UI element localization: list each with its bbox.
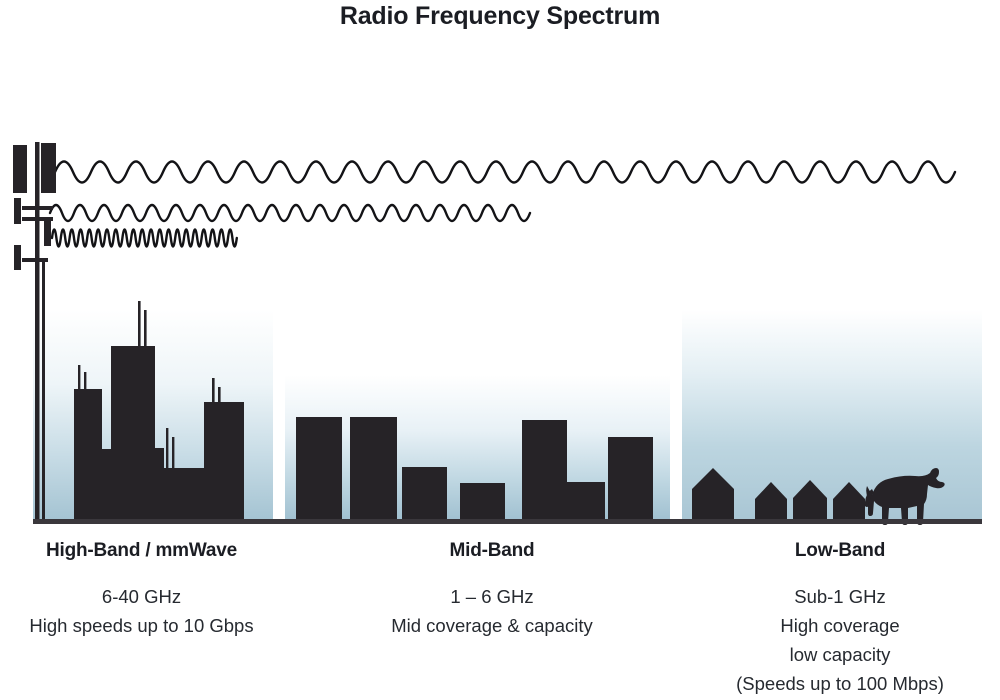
ground-line: [33, 519, 982, 524]
building-mid-5: [522, 420, 567, 521]
building-mid-1: [296, 417, 342, 521]
building-high-3: [111, 346, 155, 521]
band-detail-low-band-1: High coverage: [680, 611, 1000, 640]
building-mid-2: [350, 417, 397, 521]
building-high-4: [155, 448, 164, 521]
building-mid-6: [567, 482, 605, 521]
tower-mast-secondary: [42, 260, 45, 522]
band-captions: High-Band / mmWave 6-40 GHz High speeds …: [0, 540, 1000, 700]
building-high-5: [164, 468, 204, 521]
band-column-mid-band: Mid-Band 1 – 6 GHz Mid coverage & capaci…: [322, 540, 662, 640]
building-spire: [172, 437, 174, 468]
band-column-high-band: High-Band / mmWave 6-40 GHz High speeds …: [0, 540, 283, 640]
building-high-2: [102, 449, 111, 521]
band-detail-low-band-2: low capacity: [680, 640, 1000, 669]
tower-panel-middle: [14, 198, 21, 224]
tower-panel-lower: [14, 245, 21, 270]
band-frequency-low-band: Sub-1 GHz: [680, 582, 1000, 611]
wave-group: [50, 162, 955, 247]
page-title: Radio Frequency Spectrum: [0, 2, 1000, 31]
band-frequency-high-band: 6-40 GHz: [0, 582, 283, 611]
building-spire: [144, 310, 147, 346]
building-high-1: [74, 389, 102, 521]
tower-mast: [35, 142, 40, 522]
tower-panel-top-left: [13, 145, 27, 193]
band-detail-low-band-3: (Speeds up to 100 Mbps): [680, 669, 1000, 698]
building-mid-4: [460, 483, 505, 521]
spectrum-illustration: [0, 120, 1000, 530]
tower-crossbar-lower: [22, 258, 48, 262]
band-detail-high-band-1: High speeds up to 10 Gbps: [0, 611, 283, 640]
band-column-low-band: Low-Band Sub-1 GHz High coverage low cap…: [680, 540, 1000, 698]
band-frequency-mid-band: 1 – 6 GHz: [322, 582, 662, 611]
building-spire: [138, 301, 141, 346]
illustration-svg: [0, 120, 1000, 530]
band-title-high-band: High-Band / mmWave: [0, 540, 283, 562]
tower-crossbar-middle-upper: [22, 206, 53, 210]
radio-frequency-spectrum-infographic: Radio Frequency Spectrum: [0, 0, 1000, 700]
building-mid-7: [608, 437, 653, 521]
mid-band-wave: [50, 205, 530, 221]
band-detail-mid-band-1: Mid coverage & capacity: [322, 611, 662, 640]
building-mid-3: [402, 467, 447, 521]
building-spire: [166, 428, 168, 468]
tower-panel-top-right: [41, 143, 56, 193]
band-title-low-band: Low-Band: [680, 540, 1000, 562]
building-high-6: [204, 402, 244, 521]
tower-panel-middle-right: [44, 220, 51, 246]
high-band-wave: [52, 230, 237, 247]
band-title-mid-band: Mid-Band: [322, 540, 662, 562]
low-band-wave: [55, 162, 955, 183]
